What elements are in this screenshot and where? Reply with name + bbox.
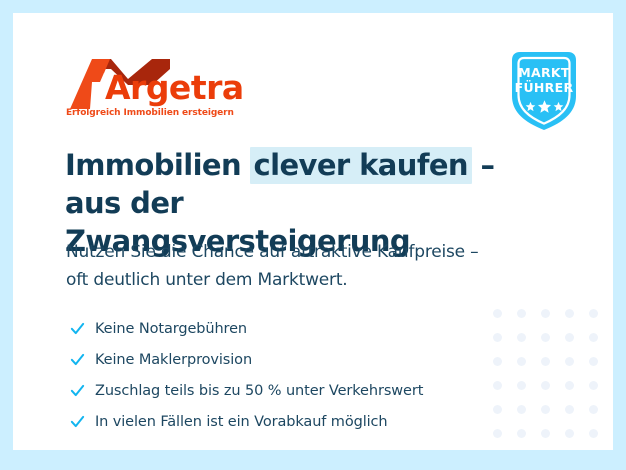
check-icon — [69, 413, 95, 430]
benefit-label: In vielen Fällen ist ein Vorabkauf mögli… — [95, 414, 388, 430]
decorative-dot — [541, 309, 550, 318]
decorative-dot — [589, 333, 598, 342]
decorative-dot — [517, 429, 526, 438]
subheadline-line-1: Nutzen Sie die Chance auf attraktive Kau… — [66, 242, 478, 262]
logo-tagline: Erfolgreich Immobilien ersteigern — [66, 108, 234, 118]
headline-highlight: clever kaufen — [250, 147, 472, 184]
decorative-dot — [541, 405, 550, 414]
decorative-dot — [541, 333, 550, 342]
advertisement-card: Argetra Erfolgreich Immobilien ersteiger… — [13, 13, 613, 450]
decorative-dot — [517, 333, 526, 342]
decorative-dot — [565, 357, 574, 366]
check-icon — [69, 320, 95, 337]
decorative-dot — [565, 405, 574, 414]
benefit-item: Zuschlag teils bis zu 50 % unter Verkehr… — [69, 375, 499, 406]
decorative-dot — [589, 357, 598, 366]
headline-part-2: – — [471, 148, 494, 182]
check-icon — [69, 382, 95, 399]
benefit-label: Keine Notargebühren — [95, 321, 247, 337]
benefit-item: Keine Maklerprovision — [69, 344, 499, 375]
decorative-dot — [517, 357, 526, 366]
decorative-dot — [565, 381, 574, 390]
decorative-dot — [565, 333, 574, 342]
shield-icon — [502, 46, 586, 134]
benefits-list: Keine NotargebührenKeine Maklerprovision… — [69, 313, 499, 437]
decorative-dot — [589, 405, 598, 414]
decorative-dot — [541, 357, 550, 366]
decorative-dot — [565, 429, 574, 438]
subheadline-line-2: oft deutlich unter dem Marktwert. — [66, 270, 348, 290]
benefit-item: Keine Notargebühren — [69, 313, 499, 344]
benefit-item: In vielen Fällen ist ein Vorabkauf mögli… — [69, 406, 499, 437]
check-icon — [69, 351, 95, 368]
decorative-dot — [541, 381, 550, 390]
decorative-dot — [517, 309, 526, 318]
headline-part-1: Immobilien — [65, 148, 251, 182]
benefit-label: Zuschlag teils bis zu 50 % unter Verkehr… — [95, 383, 423, 399]
decorative-dot — [517, 381, 526, 390]
decorative-dot — [517, 405, 526, 414]
argetra-logo[interactable]: Argetra Erfolgreich Immobilien ersteiger… — [66, 57, 266, 125]
logo-wordmark: Argetra — [105, 71, 244, 104]
decorative-dot — [589, 309, 598, 318]
benefit-label: Keine Maklerprovision — [95, 352, 252, 368]
subheadline: Nutzen Sie die Chance auf attraktive Kau… — [66, 238, 546, 294]
dot-grid-icon — [485, 301, 605, 450]
decorative-dot — [565, 309, 574, 318]
decorative-dot — [589, 429, 598, 438]
decorative-dot — [589, 381, 598, 390]
decorative-dot — [541, 429, 550, 438]
market-leader-badge: MARKT FÜHRER — [502, 46, 586, 134]
